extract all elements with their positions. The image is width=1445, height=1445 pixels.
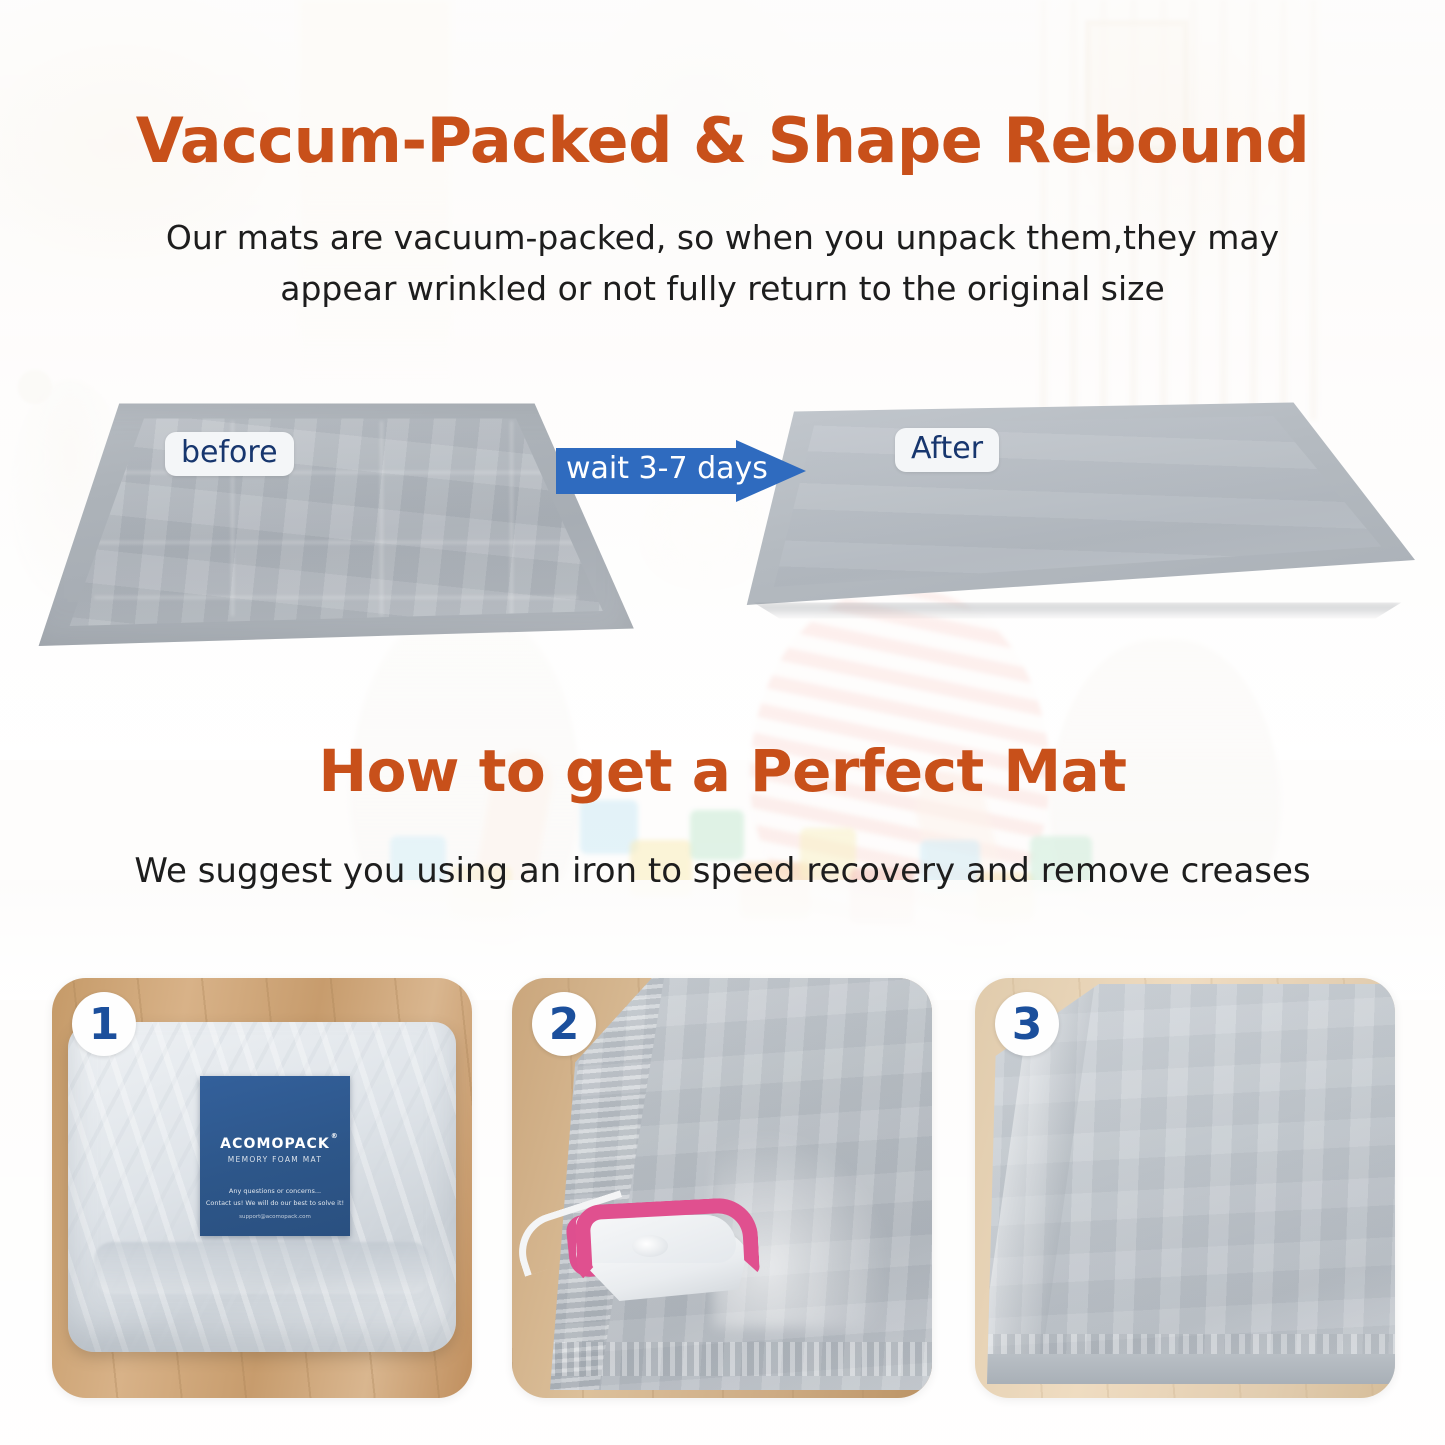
brand-text: ACOMOPACK [220,1136,330,1152]
arrow-label: wait 3-7 days [566,451,756,486]
subtitle-primary: Our mats are vacuum-packed, so when you … [0,212,1445,314]
support-line-1: Any questions or concerns... [229,1187,321,1195]
infographic-page: Vaccum-Packed & Shape Rebound Our mats a… [0,0,1445,1445]
step-card-1: ACOMOPACK® MEMORY FOAM MAT Any questions… [52,978,472,1398]
support-line-2: Contact us! We will do our best to solve… [206,1199,344,1207]
step-badge-3: 3 [995,992,1059,1056]
crease-line [94,596,578,599]
product-label: ACOMOPACK® MEMORY FOAM MAT Any questions… [200,1076,350,1236]
crease-line [380,421,383,616]
crease-line [94,541,578,544]
mat-hem [550,1342,932,1376]
label-before: before [165,432,294,476]
clothes-iron-icon [560,1193,760,1303]
step-photo-row: ACOMOPACK® MEMORY FOAM MAT Any questions… [0,978,1445,1408]
step-card-2: 2 [512,978,932,1398]
before-after-comparison [0,378,1445,658]
page-title-primary: Vaccum-Packed & Shape Rebound [0,104,1445,177]
subtitle-secondary: We suggest you using an iron to speed re… [0,845,1445,898]
crease-line [510,421,513,616]
mat-front-edge [987,1354,1395,1384]
iron-dial [632,1235,668,1257]
label-after: After [895,428,999,472]
step-card-3: 3 [975,978,1395,1398]
mat-photo-before [20,396,640,646]
label-support-text: Any questions or concerns... Contact us!… [200,1185,350,1222]
page-title-secondary: How to get a Perfect Mat [0,737,1445,805]
support-email: support@acomopack.com [200,1212,350,1222]
registered-trademark-icon: ® [331,1132,339,1140]
brand-name: ACOMOPACK® [220,1136,330,1152]
mat-edge-shadow [754,603,1402,619]
step-badge-1: 1 [72,992,136,1056]
iron-handle [574,1196,760,1283]
wait-arrow: wait 3-7 days [556,440,806,502]
mat-photo-after [740,398,1415,623]
bag-fold [94,1242,430,1294]
step-badge-2: 2 [532,992,596,1056]
product-name: MEMORY FOAM MAT [228,1155,322,1164]
